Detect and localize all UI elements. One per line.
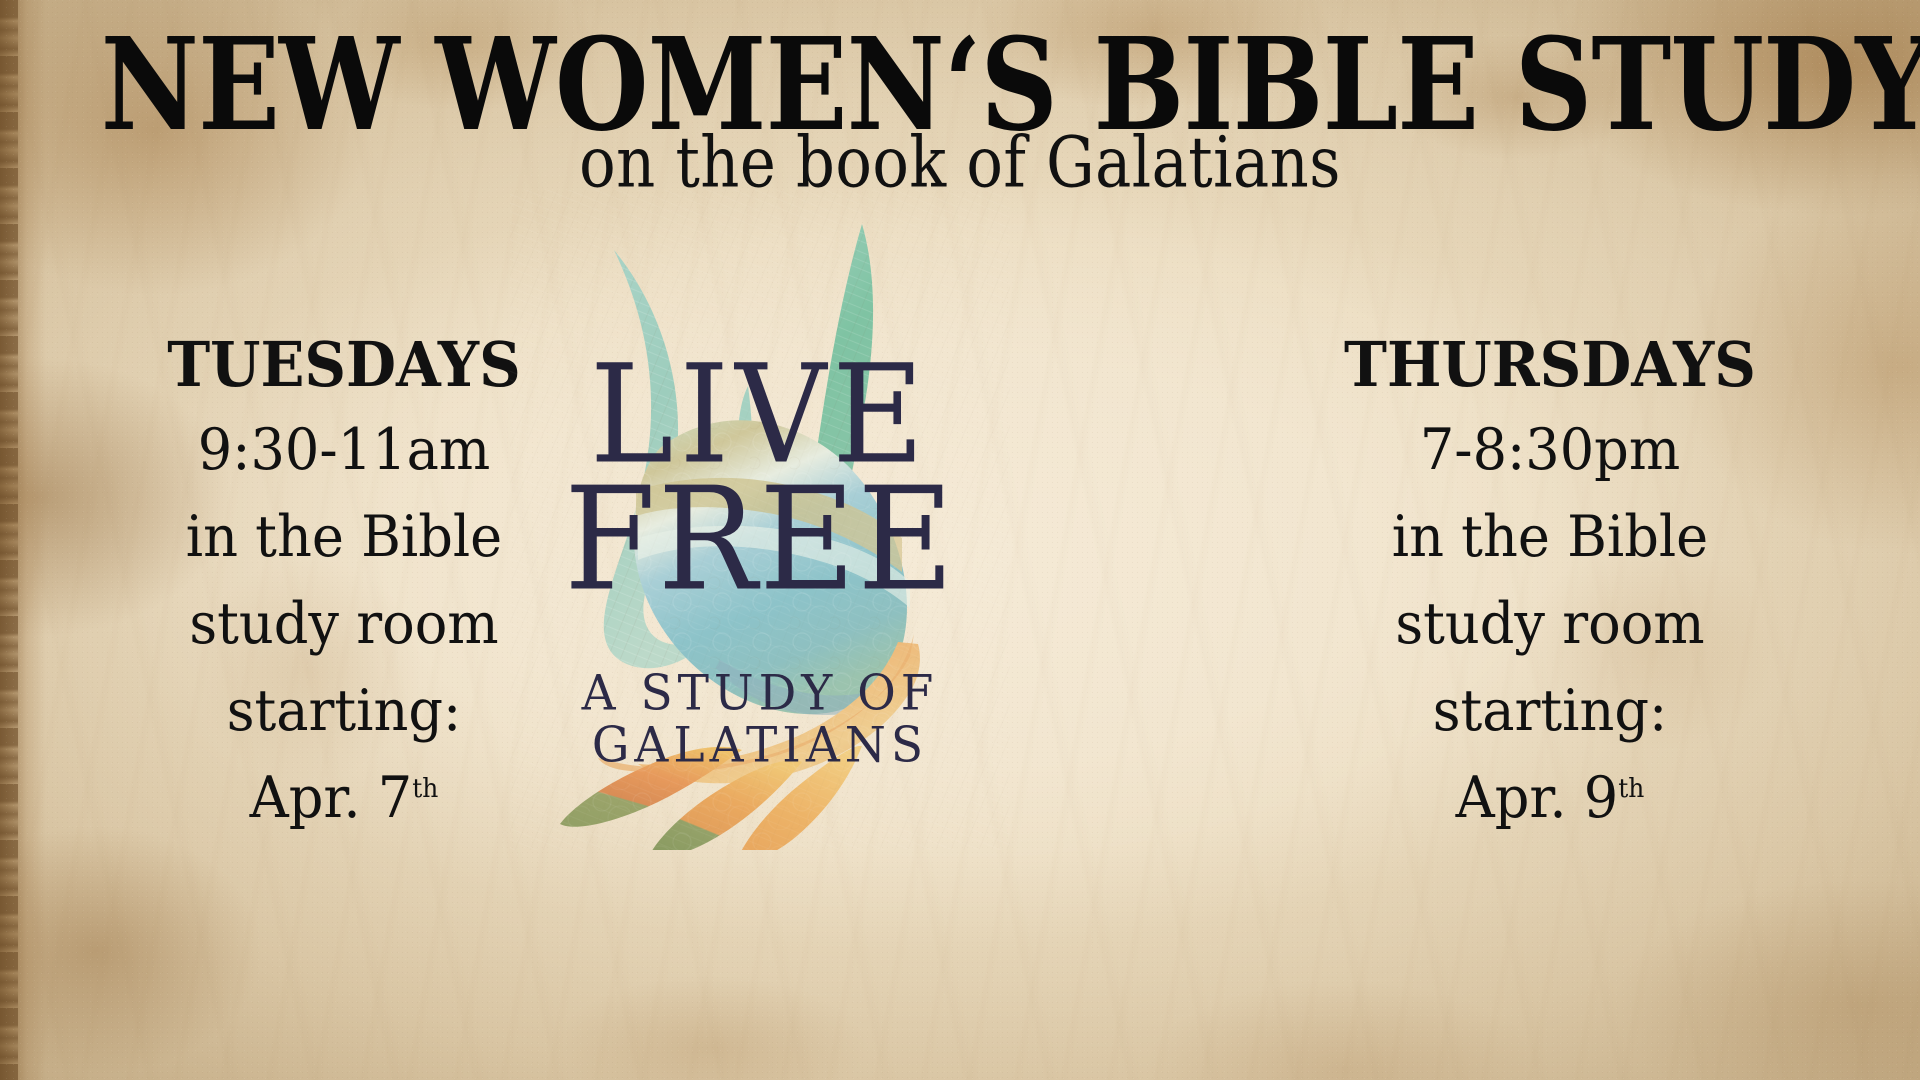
session-start-date-suffix: th [412,774,438,804]
session-day-label: THURSDAYS [1290,334,1811,396]
session-start-date: Apr. 9th [1284,770,1816,827]
session-start-date-text: Apr. 9 [1456,765,1619,831]
dove-icon [510,190,1010,850]
session-start-date-suffix: th [1618,774,1644,804]
poster-canvas: NEW WOMEN‘S BIBLE STUDY on the book of G… [0,0,1920,1080]
dove-texture-overlay [510,190,1010,850]
session-starting-label: starting: [1284,683,1816,740]
session-time: 7-8:30pm [1284,422,1816,479]
page-subtitle: on the book of Galatians [77,128,1843,198]
session-block-thursdays: THURSDAYS 7-8:30pm in the Bible study ro… [1270,334,1830,857]
session-location-line-2: study room [1284,596,1816,653]
session-location-line-1: in the Bible [1284,509,1816,566]
session-start-date-text: Apr. 7 [250,765,413,831]
live-free-logo: LIVE FREE A STUDY OF GALATIANS [510,190,1010,850]
